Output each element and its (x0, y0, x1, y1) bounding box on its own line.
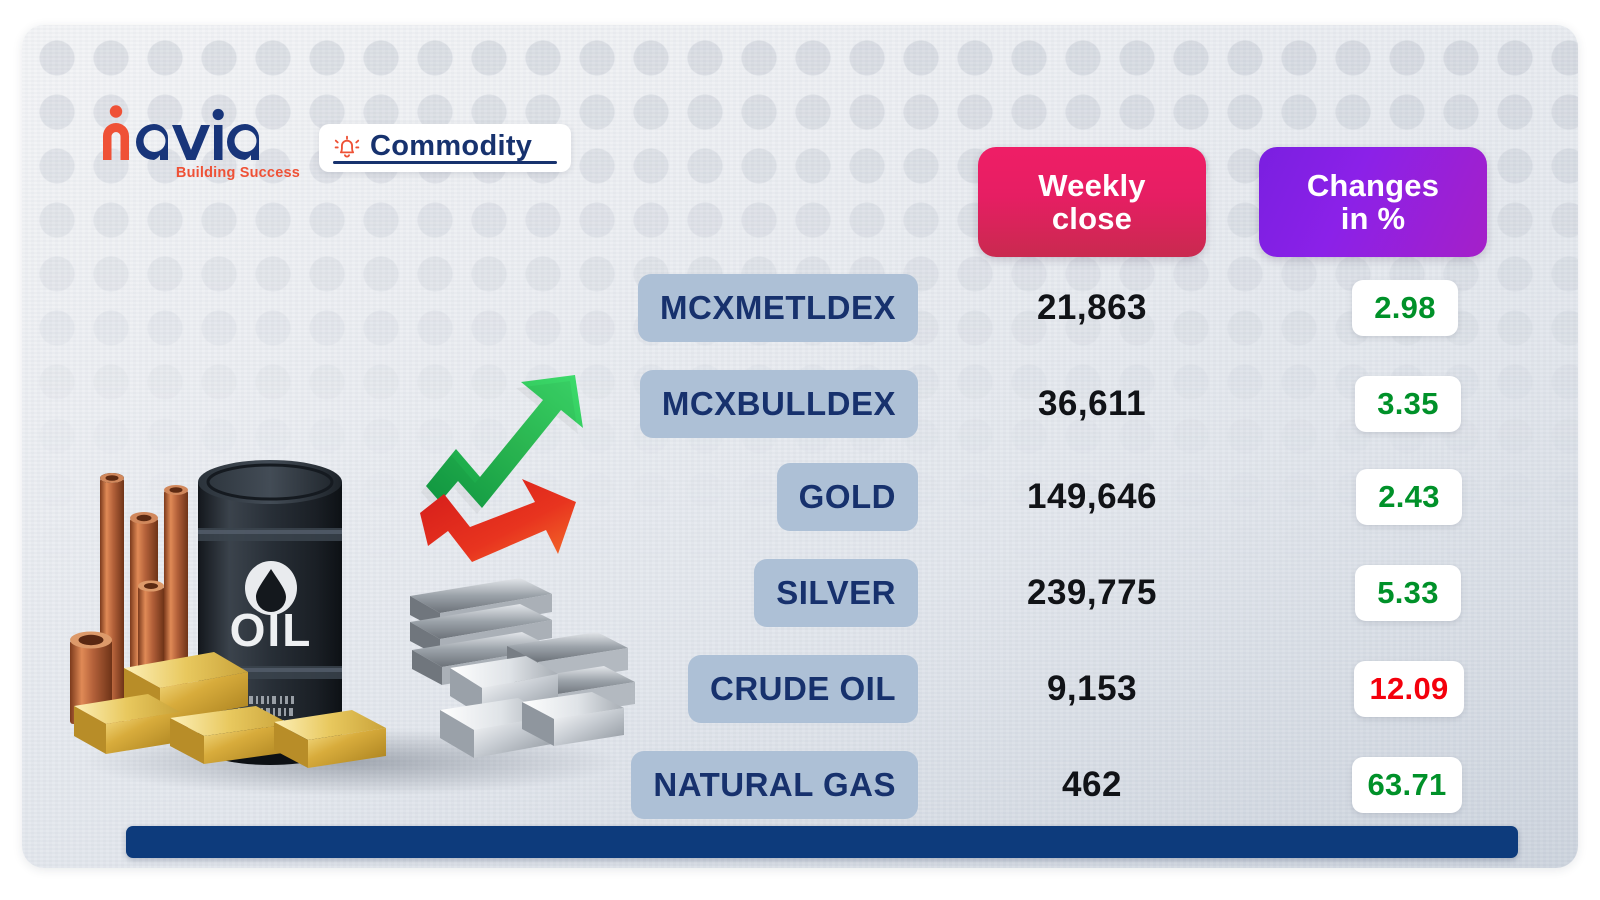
weekly-close-value: 36,611 (977, 370, 1207, 438)
instrument-pill: MCXBULLDEX (640, 370, 918, 438)
weekly-close-value: 239,775 (977, 559, 1207, 627)
svg-text:OIL: OIL (230, 604, 313, 656)
change-badge: 2.98 (1352, 280, 1458, 336)
change-badge: 5.33 (1355, 565, 1461, 621)
change-badge: 63.71 (1352, 757, 1462, 813)
instrument-pill: NATURAL GAS (631, 751, 918, 819)
weekly-close-value: 21,863 (977, 274, 1207, 342)
instrument-pill: GOLD (777, 463, 918, 531)
footer-bar (126, 826, 1518, 858)
infographic-canvas: Building Success Commodity Week (0, 0, 1600, 900)
commodities-illustration: OIL (52, 350, 652, 800)
weekly-close-value: 149,646 (977, 463, 1207, 531)
weekly-close-value: 9,153 (977, 655, 1207, 723)
change-badge: 12.09 (1354, 661, 1464, 717)
instrument-pill: MCXMETLDEX (638, 274, 918, 342)
table-row[interactable]: MCXMETLDEX 21,863 2.98 (22, 274, 1578, 342)
change-badge: 3.35 (1355, 376, 1461, 432)
up-arrow-icon (421, 375, 583, 514)
commodity-card: Building Success Commodity Week (22, 25, 1578, 868)
commodities-artwork-icon: OIL (52, 350, 652, 800)
instrument-pill: SILVER (754, 559, 918, 627)
change-badge: 2.43 (1356, 469, 1462, 525)
instrument-pill: CRUDE OIL (688, 655, 918, 723)
weekly-close-value: 462 (977, 751, 1207, 819)
